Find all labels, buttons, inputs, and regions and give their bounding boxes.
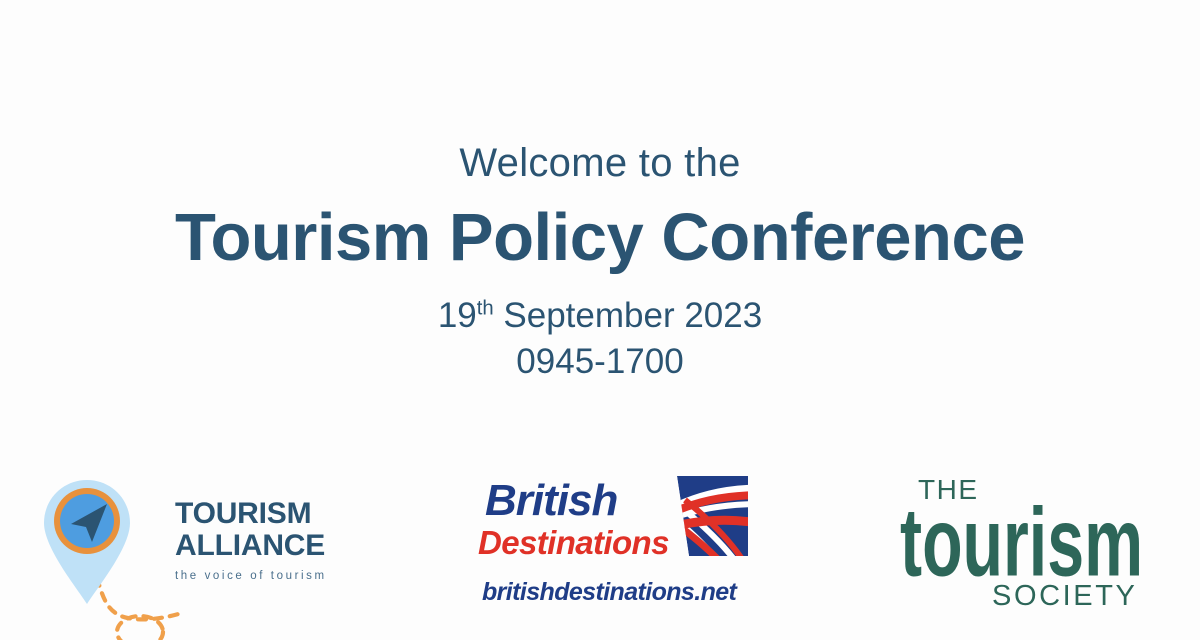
date-day: 19 bbox=[438, 296, 477, 335]
time-line: 0945-1700 bbox=[0, 339, 1200, 385]
bd-wordmark-row: British Destinations bbox=[478, 478, 748, 568]
society-word-society: SOCIETY bbox=[992, 580, 1138, 613]
logo-tourism-society: THE tourism SOCIETY bbox=[900, 470, 1150, 630]
bd-word-destinations: Destinations bbox=[478, 524, 669, 562]
conference-welcome-slide: Welcome to the Tourism Policy Conference… bbox=[0, 0, 1200, 640]
svg-text:tourism: tourism bbox=[900, 498, 1143, 590]
logo-strip: TOURISM ALLIANCE the voice of tourism Br… bbox=[0, 460, 1200, 640]
alliance-name-line1: TOURISM bbox=[175, 498, 350, 530]
bd-word-british: British bbox=[485, 476, 617, 526]
logo-british-destinations: British Destinations bbox=[478, 478, 748, 628]
headline-block: Welcome to the Tourism Policy Conference… bbox=[0, 140, 1200, 385]
logo-tourism-alliance: TOURISM ALLIANCE the voice of tourism bbox=[35, 470, 335, 640]
date-ordinal-suffix: th bbox=[477, 297, 494, 319]
welcome-line: Welcome to the bbox=[0, 140, 1200, 186]
society-word-tourism: tourism bbox=[900, 498, 1150, 590]
alliance-wordmark: TOURISM ALLIANCE the voice of tourism bbox=[175, 498, 350, 582]
date-line: 19th September 2023 bbox=[0, 293, 1200, 339]
page-title: Tourism Policy Conference bbox=[0, 198, 1200, 277]
date-month-year: September 2023 bbox=[494, 296, 763, 335]
union-flag-emblem-icon bbox=[663, 474, 748, 562]
bd-website-url[interactable]: britishdestinations.net bbox=[482, 578, 736, 607]
alliance-name-line2: ALLIANCE bbox=[175, 530, 350, 562]
alliance-tagline: the voice of tourism bbox=[175, 570, 350, 582]
